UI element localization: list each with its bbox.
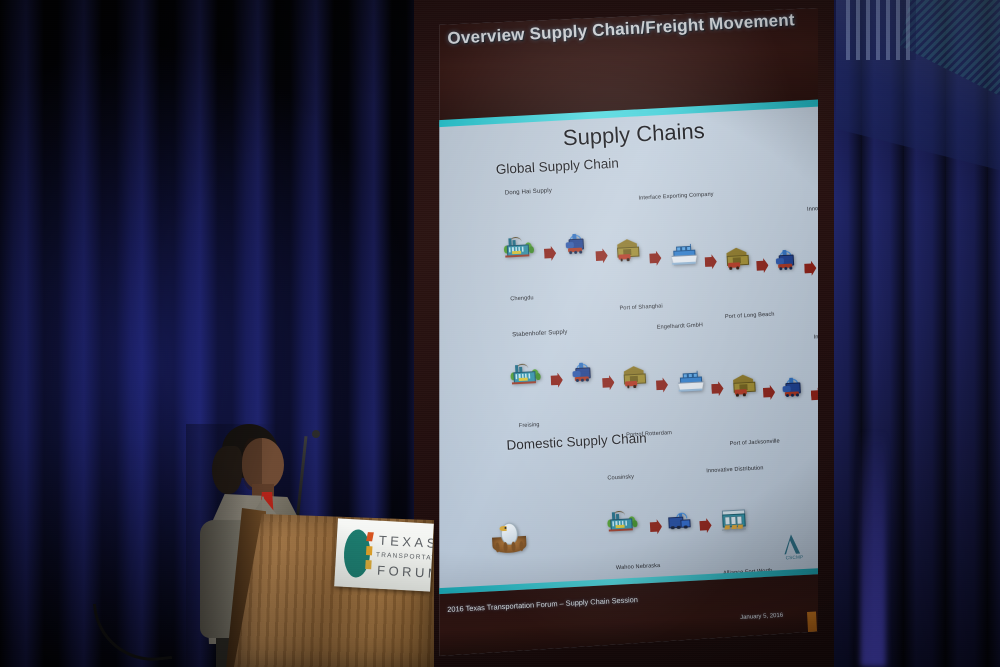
arrow-icon xyxy=(544,246,557,262)
node-label-engelhardt-gmbh: Engelhardt GmbH xyxy=(657,322,704,331)
node-label-dong-hai-supply: Dong Hai Supply xyxy=(505,187,553,197)
node-label-innovative-distribution: Innovative Distribution xyxy=(807,203,818,213)
arrow-icon xyxy=(602,375,615,391)
train-icon xyxy=(775,250,800,271)
arrow-icon xyxy=(595,248,608,264)
arrow-icon xyxy=(711,381,724,397)
cscmp-logo-mark xyxy=(783,534,800,555)
factory-icon xyxy=(607,510,638,534)
arrow-icon xyxy=(811,387,818,403)
podium-sign-line1: TEXAS xyxy=(378,533,433,551)
node-label-interface-exporting-company: Interface Exporting Company xyxy=(638,192,713,203)
arrow-icon xyxy=(550,372,563,388)
node-label-stabenhofer-supply: Stabenhofer Supply xyxy=(512,328,568,338)
node-label-cousinsky: Cousinsky xyxy=(607,474,634,482)
wall-slats xyxy=(846,0,916,60)
logo-accent-dash xyxy=(366,532,374,541)
warehouse-icon xyxy=(623,365,648,388)
train-icon xyxy=(564,233,589,254)
logo-accent-dash xyxy=(366,546,372,555)
warehouse-icon xyxy=(732,374,757,397)
arrow-icon xyxy=(649,250,662,266)
arrow-icon xyxy=(699,518,712,534)
projection-screen: Overview Supply Chain/Freight Movement S… xyxy=(437,8,818,656)
presentation-slide: Overview Supply Chain/Freight Movement S… xyxy=(437,8,818,656)
arrow-icon xyxy=(756,258,769,274)
speaker-hair-back xyxy=(212,446,242,494)
node-label-wahoo-nebraska: Wahoo Nebraska xyxy=(616,563,661,572)
node-label-innovative-distribution: Innovative Distribution xyxy=(814,332,818,342)
node-label-innovative-distribution: Innovative Distribution xyxy=(706,466,764,476)
node-label-chengdu: Chengdu xyxy=(510,295,534,303)
podium-sign-line3: FORUM xyxy=(377,563,434,582)
arrow-icon xyxy=(704,254,717,270)
arrow-icon xyxy=(650,519,663,535)
ship-icon xyxy=(676,369,705,392)
ship-icon xyxy=(670,242,699,265)
conference-stage-photo: Overview Supply Chain/Freight Movement S… xyxy=(0,0,1000,667)
node-label-port-of-shanghai: Port of Shanghai xyxy=(619,304,663,313)
factory-icon xyxy=(510,363,541,387)
node-label-port-of-long-beach: Port of Long Beach xyxy=(725,312,775,322)
warehouse-icon xyxy=(616,239,641,262)
arrow-icon xyxy=(763,385,776,401)
blue-light-beam xyxy=(860,430,886,667)
podium-sign: TEXAS TRANSPORTATION FORUM xyxy=(334,518,434,591)
node-label-port-of-rotterdam: Port of Rotterdam xyxy=(626,430,672,439)
logo-accent-dash xyxy=(365,560,371,569)
slide-heading: Supply Chains xyxy=(562,118,705,151)
distribution-center-icon xyxy=(720,508,747,531)
speaker-face-shadow xyxy=(242,438,262,490)
egg-nest-icon xyxy=(492,522,528,554)
train-icon xyxy=(571,362,596,383)
cscmp-logo-text: CSCMP xyxy=(779,554,809,561)
node-label-port-of-jacksonville: Port of Jacksonville xyxy=(730,439,780,449)
cscmp-logo: CSCMP xyxy=(778,533,810,565)
factory-icon xyxy=(503,236,534,260)
warehouse-icon xyxy=(725,247,750,270)
truck-icon xyxy=(668,510,691,531)
section-heading-global: Global Supply Chain xyxy=(495,155,619,176)
node-label-freising: Freising xyxy=(519,422,540,430)
arrow-icon xyxy=(804,260,817,276)
podium-sign-line2: TRANSPORTATION xyxy=(376,552,434,563)
arrow-icon xyxy=(656,377,669,393)
slide-body: Supply Chains Global Supply Chain Domest… xyxy=(437,8,818,655)
train-icon xyxy=(782,377,807,398)
